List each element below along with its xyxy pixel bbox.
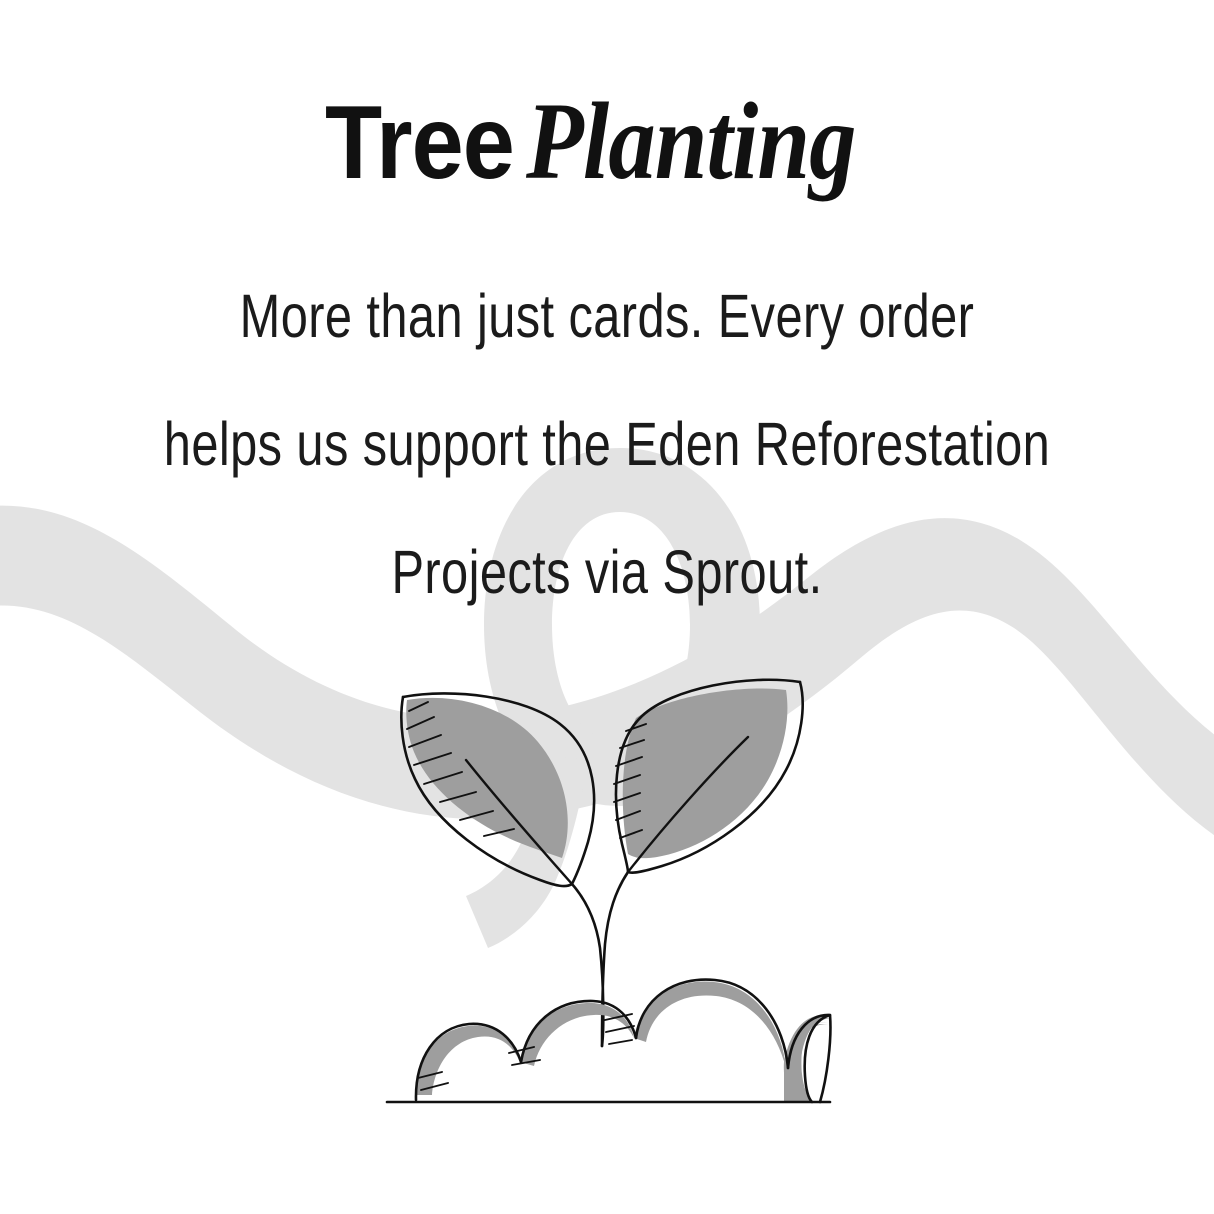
right-leaf-icon [614, 680, 803, 873]
tree-planting-poster: TreePlanting More than just cards. Every… [0, 0, 1214, 1214]
page-title: TreePlanting [0, 0, 1214, 196]
text-block: TreePlanting More than just cards. Every… [0, 0, 1214, 636]
left-leaf-icon [401, 693, 594, 886]
body-line-1: More than just cards. Every order [121, 252, 1092, 380]
left-leaf-veins [407, 702, 514, 836]
stem [572, 872, 628, 1046]
body-line-3: Projects via Sprout. [121, 508, 1092, 636]
soil-mound [416, 980, 840, 1102]
right-leaf-veins [614, 724, 646, 838]
headline-italic-word: Planting [526, 86, 856, 196]
body-copy: More than just cards. Every order helps … [0, 196, 1214, 636]
soil-texture-marks [418, 1014, 634, 1090]
body-line-2: helps us support the Eden Reforestation [121, 380, 1092, 508]
headline-bold-word: Tree [325, 91, 514, 195]
